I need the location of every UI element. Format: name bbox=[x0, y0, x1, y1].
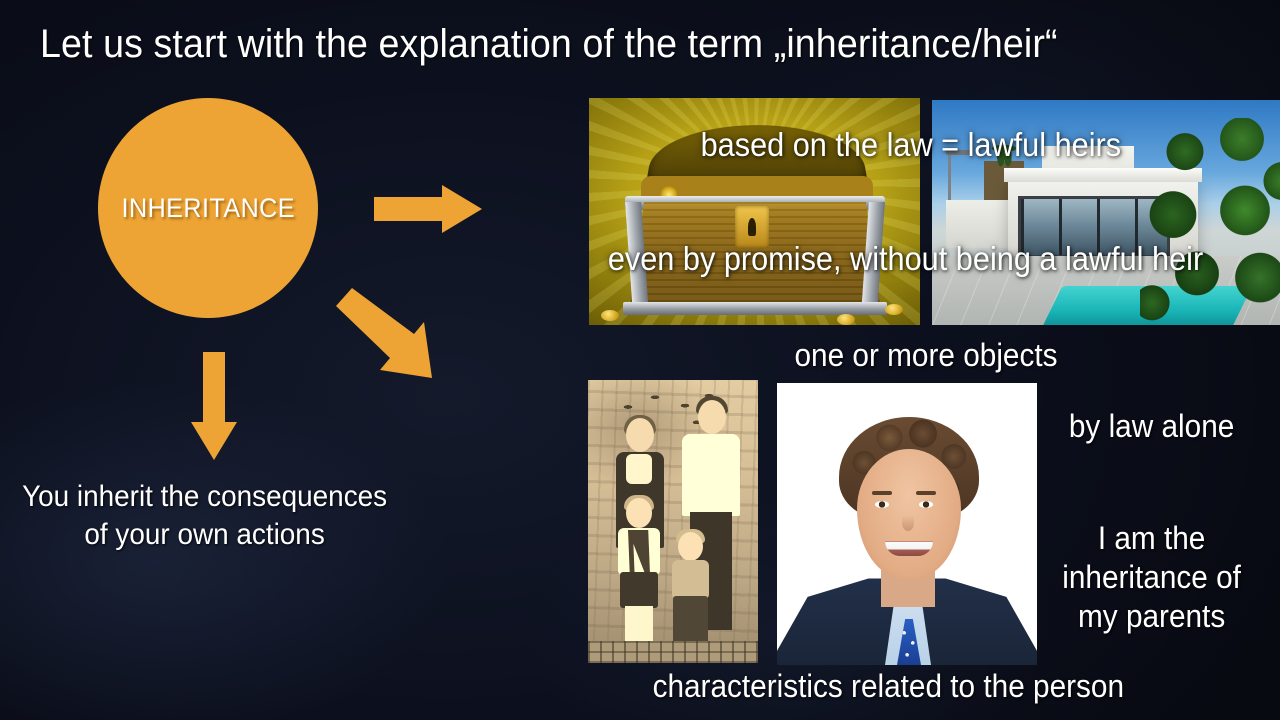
loose-coin bbox=[601, 310, 619, 321]
label-characteristics: characteristics related to the person bbox=[600, 668, 1177, 705]
portrait-left-eye bbox=[875, 501, 889, 508]
portrait-right-eyebrow bbox=[916, 491, 936, 495]
loose-coin bbox=[837, 314, 855, 325]
older-boy-shorts bbox=[620, 572, 658, 608]
inheritance-circle-node[interactable]: INHERITANCE bbox=[98, 98, 318, 318]
label-by-law-alone: by law alone bbox=[1040, 408, 1263, 445]
arrow-diagonal-icon bbox=[336, 286, 456, 382]
label-even-by-promise: even by promise, without being a lawful … bbox=[580, 240, 1231, 278]
older-boy-head bbox=[626, 498, 652, 528]
label-i-am-the-inheritance: I am the inheritance of my parents bbox=[1040, 519, 1263, 636]
arrow-right-icon bbox=[374, 185, 482, 233]
label-consequences-line-2: of your own actions bbox=[0, 516, 409, 554]
label-i-am-the-inheritance-line-3: my parents bbox=[1040, 597, 1263, 636]
label-consequences: You inherit the consequences of your own… bbox=[0, 478, 409, 555]
inheritance-circle-label: INHERITANCE bbox=[121, 193, 294, 224]
label-i-am-the-inheritance-line-2: inheritance of bbox=[1040, 558, 1263, 597]
younger-boy-shirt bbox=[672, 560, 709, 600]
man-portrait-photo bbox=[777, 383, 1037, 665]
father-head bbox=[698, 400, 726, 434]
label-based-on-law: based on the law = lawful heirs bbox=[590, 126, 1232, 164]
family-photo-rug bbox=[588, 641, 758, 663]
family-photo-younger-boy bbox=[670, 532, 712, 650]
vintage-family-photo bbox=[588, 380, 758, 663]
mother-blouse bbox=[626, 454, 652, 484]
portrait-right-eye bbox=[919, 501, 933, 508]
loose-coin bbox=[885, 304, 903, 315]
portrait-nose bbox=[902, 515, 914, 531]
slide-canvas: Let us start with the explanation of the… bbox=[0, 0, 1280, 720]
label-one-or-more-objects: one or more objects bbox=[740, 337, 1112, 374]
father-shirt bbox=[682, 434, 740, 516]
portrait-face bbox=[857, 449, 961, 579]
portrait-left-eyebrow bbox=[872, 491, 892, 495]
label-consequences-line-1: You inherit the consequences bbox=[0, 478, 409, 516]
page-title: Let us start with the explanation of the… bbox=[40, 22, 1058, 66]
arrow-down-icon bbox=[191, 352, 237, 460]
label-i-am-the-inheritance-line-1: I am the bbox=[1040, 519, 1263, 558]
younger-boy-head bbox=[678, 532, 703, 561]
family-photo-older-boy bbox=[616, 498, 662, 646]
chest-metal-base bbox=[623, 302, 887, 315]
portrait-smiling-mouth bbox=[885, 541, 933, 556]
mother-head bbox=[626, 418, 654, 452]
